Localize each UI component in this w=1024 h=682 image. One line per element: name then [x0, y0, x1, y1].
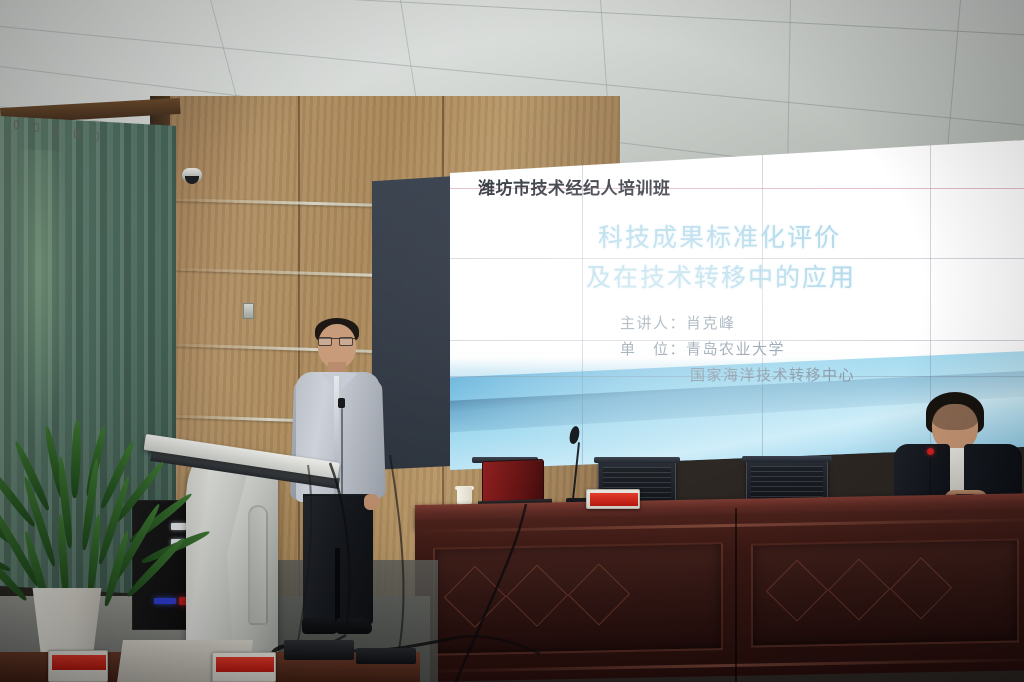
curtain-light-glow	[10, 148, 70, 451]
presenter-glasses-left-lens	[318, 337, 332, 346]
front-nameplate-left-panel	[52, 655, 106, 670]
chair-2-top	[594, 457, 680, 463]
table-cable	[430, 500, 610, 682]
slide-title-line-2: 及在技术转移中的应用	[586, 258, 856, 294]
slide-byline-org: 单 位：青岛农业大学	[620, 338, 785, 359]
slide-byline-speaker: 主讲人：肖克峰	[620, 312, 736, 333]
presentation-room-photo: 潍坊市技术经纪人培训班 科技成果标准化评价 及在技术转移中的应用 主讲人：肖克峰…	[0, 0, 1024, 682]
wall-control-box	[243, 303, 254, 319]
slide-byline-center: 国家海洋技术转移中心	[690, 364, 855, 385]
foreground-device-2	[356, 648, 416, 664]
lapel-microphone	[338, 398, 345, 408]
chair-3-top	[742, 456, 832, 462]
attendee-mic-indicator	[927, 448, 934, 455]
seated-face-shadow	[932, 404, 978, 430]
table-panel-right	[751, 538, 1019, 647]
red-laptop-lid[interactable]	[482, 459, 544, 503]
presenter-glasses-right-lens	[339, 337, 353, 346]
slide-title-line-1: 科技成果标准化评价	[598, 218, 841, 254]
front-nameplate-right	[212, 652, 276, 682]
slide-header-text: 潍坊市技术经纪人培训班	[478, 174, 671, 199]
front-nameplate-right-panel	[216, 657, 274, 672]
foreground-device	[284, 640, 354, 660]
table-seam	[735, 508, 737, 682]
front-nameplate-left	[48, 650, 108, 682]
